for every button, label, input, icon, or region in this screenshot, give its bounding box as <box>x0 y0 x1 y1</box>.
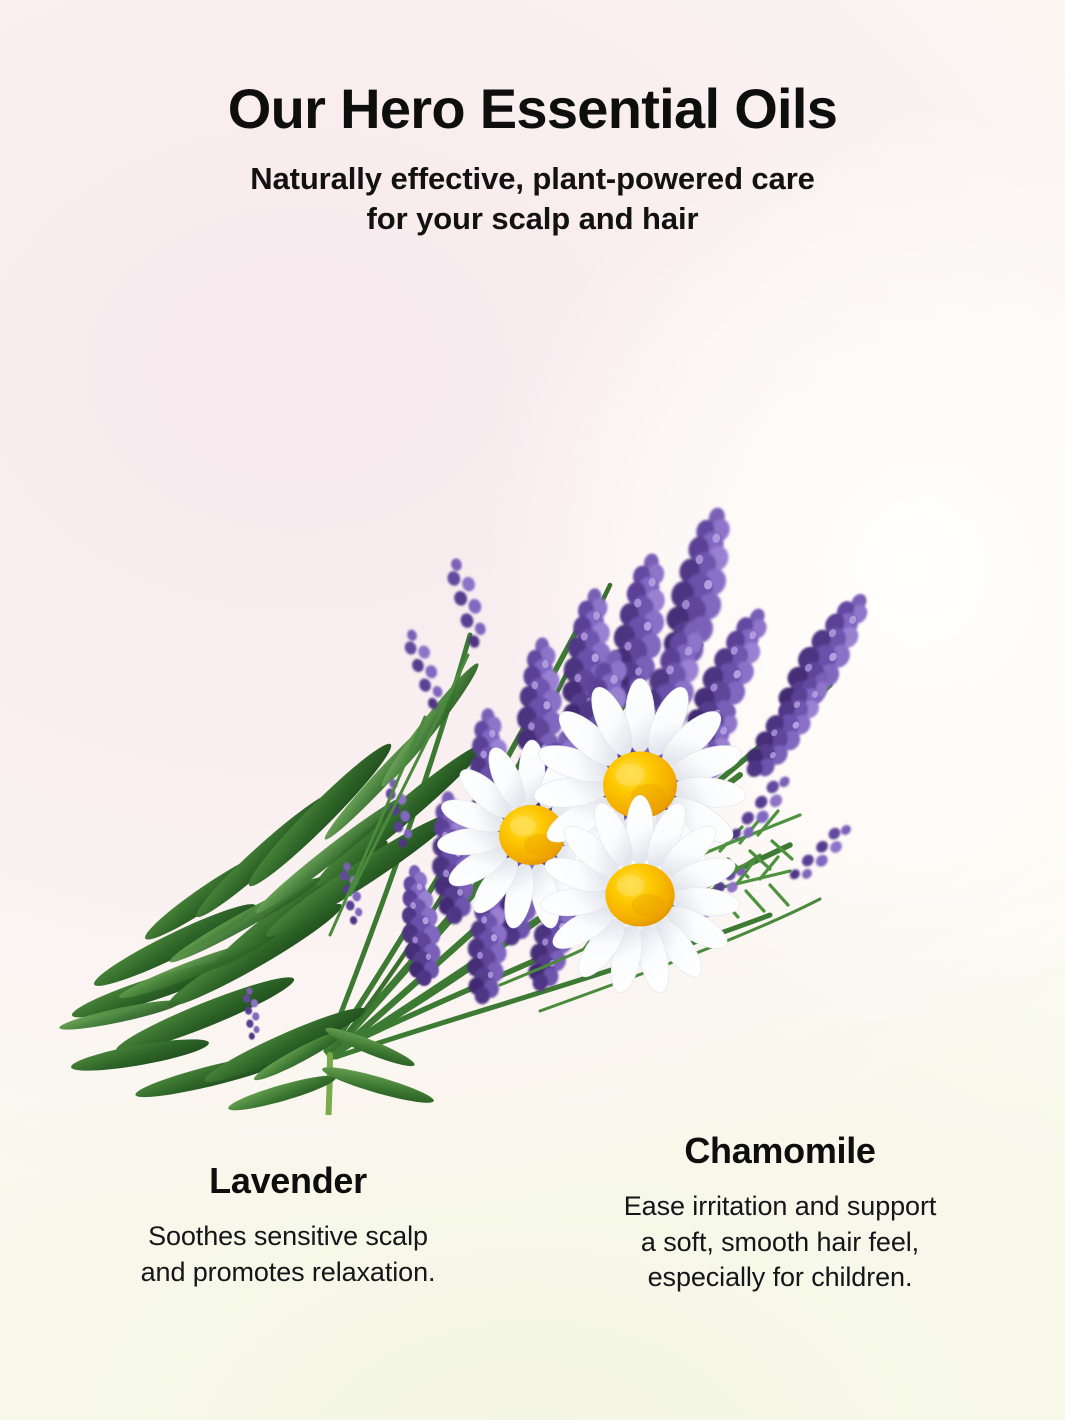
benefit-lavender: Lavender Soothes sensitive scalp and pro… <box>28 1160 548 1290</box>
benefit-lavender-title: Lavender <box>28 1160 548 1202</box>
hero-bouquet-image <box>0 255 1065 1115</box>
page-title: Our Hero Essential Oils <box>0 80 1065 138</box>
benefit-chamomile-description: Ease irritation and support a soft, smoo… <box>520 1189 1040 1296</box>
subtitle-line-1: Naturally effective, plant-powered care <box>250 161 815 196</box>
header: Our Hero Essential Oils Naturally effect… <box>0 0 1065 239</box>
benefit-lavender-line-2: and promotes relaxation. <box>141 1257 436 1287</box>
benefit-chamomile-line-2: a soft, smooth hair feel, <box>641 1227 919 1257</box>
page-subtitle: Naturally effective, plant-powered care … <box>0 159 1065 238</box>
benefit-lavender-line-1: Soothes sensitive scalp <box>148 1221 428 1251</box>
benefit-chamomile: Chamomile Ease irritation and support a … <box>520 1130 1040 1296</box>
benefit-lavender-description: Soothes sensitive scalp and promotes rel… <box>28 1219 548 1290</box>
benefit-chamomile-title: Chamomile <box>520 1130 1040 1172</box>
benefit-chamomile-line-1: Ease irritation and support <box>624 1191 936 1221</box>
benefit-chamomile-line-3: especially for children. <box>648 1262 913 1292</box>
bouquet-illustration <box>0 255 1065 1115</box>
benefits-section: Lavender Soothes sensitive scalp and pro… <box>0 1120 1065 1420</box>
subtitle-line-2: for your scalp and hair <box>367 201 699 236</box>
